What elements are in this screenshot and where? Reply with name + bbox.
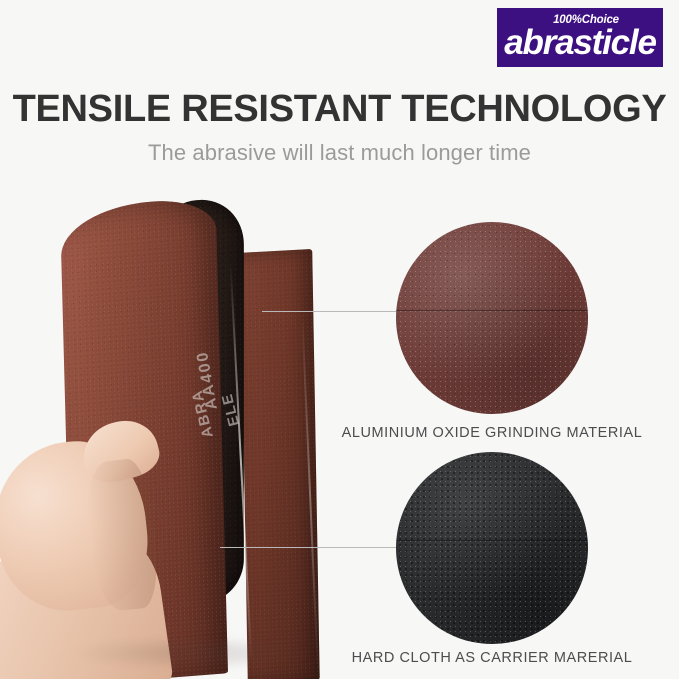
leader-line-grit — [262, 311, 402, 312]
brand-logo: 100%Choice abrasticle — [497, 8, 663, 67]
swatch-hard-cloth — [396, 452, 588, 644]
product-infographic: 100%Choice abrasticle TENSILE RESISTANT … — [0, 0, 679, 679]
page-headline: TENSILE RESISTANT TECHNOLOGY — [0, 88, 679, 131]
swatch-aluminium-oxide — [396, 222, 588, 414]
swatch-seam-line — [396, 310, 588, 311]
grain-texture — [396, 222, 588, 414]
cloth-texture — [396, 452, 588, 644]
caption-aluminium-oxide: ALUMINIUM OXIDE GRINDING MATERIAL — [282, 425, 679, 441]
leader-line-cloth — [220, 547, 402, 548]
caption-hard-cloth: HARD CLOTH AS CARRIER MARERIAL — [282, 650, 679, 666]
page-subheadline: The abrasive will last much longer time — [0, 140, 679, 166]
swatch-seam-line — [396, 540, 588, 541]
brand-wordmark: abrasticle — [497, 22, 663, 63]
